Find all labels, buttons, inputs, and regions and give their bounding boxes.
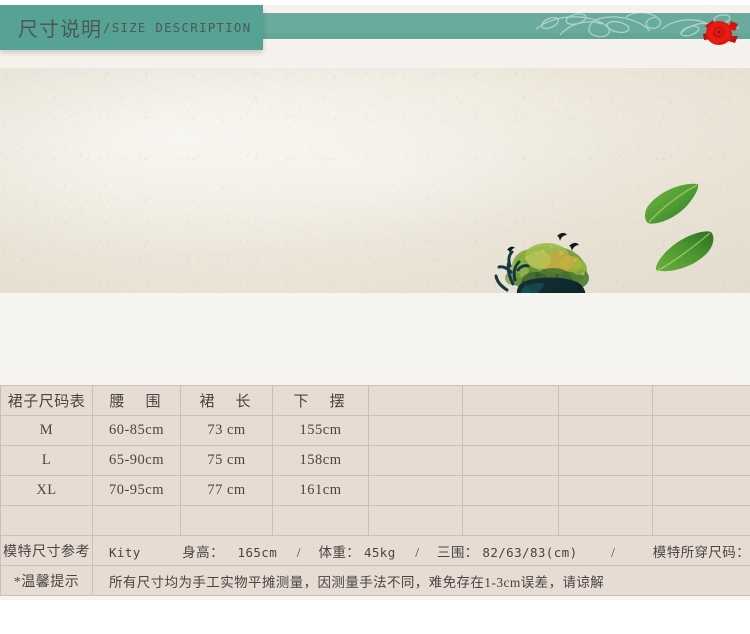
model-reference-label: 模特尺寸参考 bbox=[1, 536, 93, 566]
model-size-label: 模特所穿尺码： bbox=[653, 541, 750, 561]
table-cell-empty bbox=[559, 476, 653, 506]
model-height-value: 165cm bbox=[238, 545, 278, 560]
table-header-cell: 下 摆 bbox=[273, 386, 369, 416]
table-cell-size: XL bbox=[1, 476, 93, 506]
table-cell-hem: 161cm bbox=[273, 476, 369, 506]
table-cell-empty bbox=[463, 416, 559, 446]
banner-image: 我精心的伪装，等待你路经我的盛放 那时定有难忘的气息，洒遍你走过的痕迹 bbox=[0, 68, 750, 293]
model-measure-label: 三围： bbox=[437, 541, 479, 561]
table-cell-empty bbox=[559, 506, 653, 536]
model-name: Kity bbox=[109, 545, 141, 560]
model-separator: / bbox=[415, 545, 419, 561]
table-header-cell: 裙 长 bbox=[181, 386, 273, 416]
page-title-cn: 尺寸说明 bbox=[18, 13, 102, 42]
table-header-row: 裙子尺码表 腰 围 裙 长 下 摆 bbox=[1, 386, 750, 416]
table-cell-length: 73 cm bbox=[181, 416, 273, 446]
table-cell-empty bbox=[653, 476, 750, 506]
table-cell-hem: 155cm bbox=[273, 416, 369, 446]
model-separator: / bbox=[611, 545, 615, 561]
page-title: 尺寸说明/SIZE DESCRIPTION bbox=[18, 5, 251, 50]
table-cell-empty bbox=[653, 416, 750, 446]
table-cell-empty bbox=[463, 476, 559, 506]
table-row: L 65-90cm 75 cm 158cm bbox=[1, 446, 750, 476]
tip-label: *温馨提示 bbox=[1, 566, 93, 596]
banner-vignette bbox=[0, 68, 750, 293]
model-weight-label: 体重： bbox=[318, 541, 360, 561]
model-separator: / bbox=[297, 545, 301, 561]
table-header-cell bbox=[463, 386, 559, 416]
table-cell-size: M bbox=[1, 416, 93, 446]
table-cell-hem: 158cm bbox=[273, 446, 369, 476]
table-header-cell: 裙子尺码表 bbox=[1, 386, 93, 416]
model-reference-body: Kity 身高： 165cm / 体重： 45kg / 三围： bbox=[93, 536, 750, 566]
table-cell-empty bbox=[559, 446, 653, 476]
table-cell-waist: 70-95cm bbox=[93, 476, 181, 506]
table-row: M 60-85cm 73 cm 155cm bbox=[1, 416, 750, 446]
page-title-en: /SIZE DESCRIPTION bbox=[103, 20, 251, 35]
rose-icon bbox=[697, 12, 741, 52]
model-weight-value: 45kg bbox=[364, 545, 396, 560]
table-header-cell bbox=[653, 386, 750, 416]
table-cell-empty bbox=[369, 476, 463, 506]
banner-table-gap bbox=[0, 293, 750, 385]
table-cell-length: 75 cm bbox=[181, 446, 273, 476]
table-row: XL 70-95cm 77 cm 161cm bbox=[1, 476, 750, 506]
table-cell-empty bbox=[653, 446, 750, 476]
table-cell-empty bbox=[93, 506, 181, 536]
size-table-region: 裙子尺码表 腰 围 裙 长 下 摆 M 60-85cm 73 cm 155cm bbox=[0, 385, 750, 600]
deer-illustration bbox=[487, 220, 617, 293]
table-cell-empty bbox=[1, 506, 93, 536]
table-cell-waist: 65-90cm bbox=[93, 446, 181, 476]
model-height-label: 身高： bbox=[182, 541, 224, 561]
table-cell-empty bbox=[653, 506, 750, 536]
model-measure-value: 82/63/83(cm) bbox=[482, 545, 577, 560]
size-table: 裙子尺码表 腰 围 裙 长 下 摆 M 60-85cm 73 cm 155cm bbox=[0, 385, 750, 596]
footer-fill bbox=[0, 600, 750, 634]
tip-text: 所有尺寸均为手工实物平摊测量，因测量手法不同，难免存在1-3cm误差，请谅解 bbox=[93, 566, 750, 596]
table-header-cell bbox=[369, 386, 463, 416]
table-cell-size: L bbox=[1, 446, 93, 476]
table-cell-empty bbox=[369, 446, 463, 476]
table-cell-empty bbox=[181, 506, 273, 536]
tip-row: *温馨提示 所有尺寸均为手工实物平摊测量，因测量手法不同，难免存在1-3cm误差… bbox=[1, 566, 750, 596]
table-cell-waist: 60-85cm bbox=[93, 416, 181, 446]
table-cell-empty bbox=[369, 506, 463, 536]
table-cell-empty bbox=[369, 416, 463, 446]
table-cell-empty bbox=[273, 506, 369, 536]
page-header: 尺寸说明/SIZE DESCRIPTION bbox=[0, 0, 750, 68]
table-cell-length: 77 cm bbox=[181, 476, 273, 506]
table-cell-empty bbox=[463, 506, 559, 536]
table-header-cell: 腰 围 bbox=[93, 386, 181, 416]
table-cell-empty bbox=[463, 446, 559, 476]
table-header-cell bbox=[559, 386, 653, 416]
table-row-spacer bbox=[1, 506, 750, 536]
model-reference-row: 模特尺寸参考 Kity 身高： 165cm / 体重： 45kg bbox=[1, 536, 750, 566]
table-cell-empty bbox=[559, 416, 653, 446]
